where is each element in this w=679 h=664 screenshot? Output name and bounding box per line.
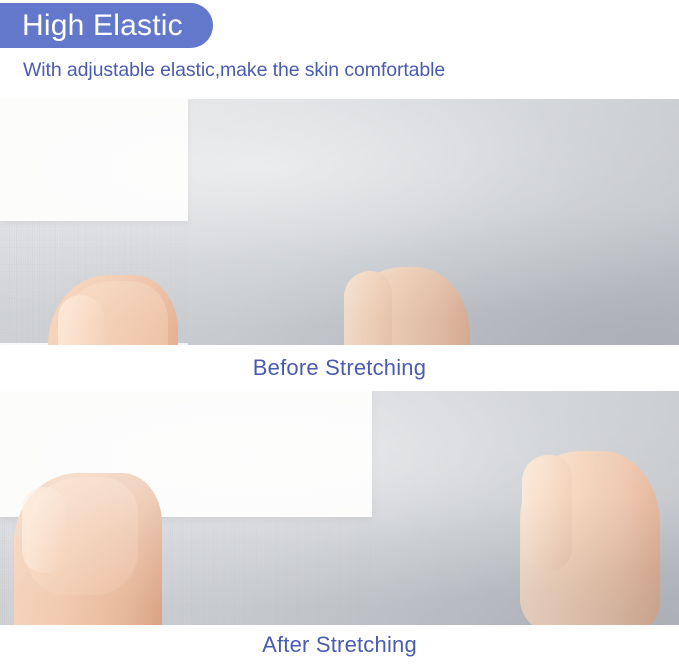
left-knuckle-highlight [58, 295, 104, 345]
left-knuckle-highlight [22, 487, 66, 573]
caption-band-before: Before Stretching [0, 345, 679, 391]
header-banner: High Elastic With adjustable elastic,mak… [0, 0, 679, 97]
caption-after-label: After Stretching [262, 633, 417, 657]
bandage-strip-icon [0, 99, 188, 221]
header-subtitle: With adjustable elastic,make the skin co… [23, 58, 445, 82]
right-thumb-shape [522, 455, 572, 571]
photo-before-stretching [0, 99, 679, 345]
badge-label: High Elastic [22, 11, 183, 41]
high-elastic-badge: High Elastic [0, 3, 213, 48]
caption-before-label: Before Stretching [253, 356, 426, 380]
caption-band-after: After Stretching [0, 625, 679, 664]
photo-after-stretching [0, 391, 679, 625]
right-thumb-shape [344, 271, 392, 345]
